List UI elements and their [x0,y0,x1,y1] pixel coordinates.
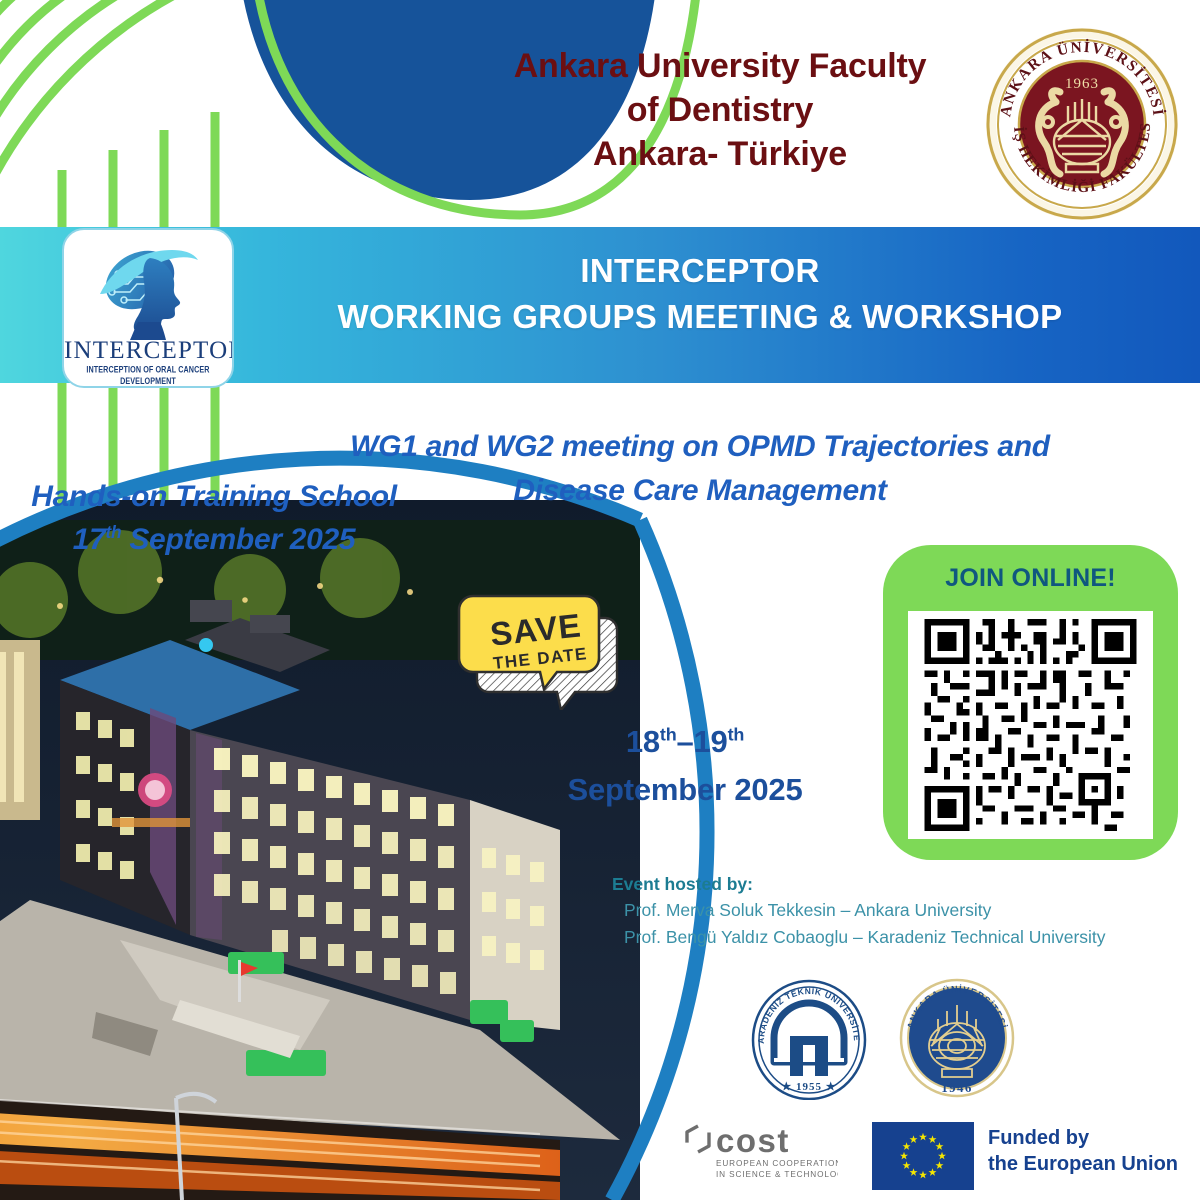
save-the-date-badge: SAVE THE DATE [455,588,625,710]
join-online-label: JOIN ONLINE! [883,564,1178,593]
qr-code-icon[interactable] [908,611,1153,839]
svg-text:1946: 1946 [941,1080,973,1095]
svg-text:★ 1955 ★: ★ 1955 ★ [781,1081,836,1093]
interceptor-tagline: INTERCEPTION OF ORAL CANCER DEVELOPMENT [64,364,232,387]
banner-line-2: WORKING GROUPS MEETING & WORKSHOP [300,294,1100,340]
woman-head-circuit-icon [80,236,220,340]
date-day-start: 18 [626,724,660,759]
cost-sub-2: IN SCIENCE & TECHNOLOGY [716,1170,838,1179]
header-line-2: of Dentistry [440,88,1000,132]
interceptor-logo-card: INTERCEPTOR INTERCEPTION OF ORAL CANCER … [62,228,234,388]
training-day: 17 [73,523,106,556]
side-building [0,640,40,820]
header-title: Ankara University Faculty of Dentistry A… [440,44,1000,177]
banner-text: INTERCEPTOR WORKING GROUPS MEETING & WOR… [300,248,1100,340]
banner-line-1: INTERCEPTOR [300,248,1100,294]
training-school-block: Hands-on Training School 17th September … [0,476,434,561]
date-dash: – [676,724,693,759]
eu-flag-icon [872,1122,974,1190]
date-ord-end: th [728,725,745,745]
join-online-box[interactable]: JOIN ONLINE! [883,545,1178,860]
date-ord-start: th [660,725,677,745]
hosts-title: Event hosted by: [612,872,1152,897]
host-person-1: Prof. Merva Soluk Tekkesin – Ankara Univ… [612,897,1152,923]
host-person-2: Prof. Bengü Yaldız Cobaoglu – Karadeniz … [612,924,1152,950]
date-day-end: 19 [694,724,728,759]
ankara-dentistry-seal-icon: ANKARA ÜNİVERSİTESİ DİŞ HEKİMLİĞİ FAKÜLT… [982,24,1182,224]
training-school-title: Hands-on Training School [0,476,434,519]
eu-funding-logo: Funded by the European Union [872,1122,1172,1180]
event-dates-month-year: September 2025 [500,766,870,814]
svg-text:1963: 1963 [1065,76,1099,92]
event-dates: 18th–19th September 2025 [500,718,870,814]
training-school-date: 17th September 2025 [0,519,434,562]
training-ordinal: th [105,522,121,542]
cost-logo: cost EUROPEAN COOPERATION IN SCIENCE & T… [678,1120,838,1182]
cost-sub-1: EUROPEAN COOPERATION [716,1159,838,1168]
event-poster: Ankara University Faculty of Dentistry A… [0,0,1200,1200]
training-month-year: September 2025 [121,523,355,556]
karadeniz-teknik-universitesi-seal-icon: KARADENİZ TEKNİK ÜNİVERSİTESİ ★ 1955 ★ [748,978,870,1100]
wg-line-1: WG1 and WG2 meeting on OPMD Trajectories… [300,425,1100,469]
event-hosts: Event hosted by: Prof. Merva Soluk Tekke… [612,872,1152,950]
event-dates-days: 18th–19th [500,718,870,766]
eu-line-1: Funded by [988,1125,1178,1151]
cost-wordmark: cost [716,1122,790,1159]
interceptor-wordmark: INTERCEPTOR [64,338,232,363]
ankara-universitesi-seal-icon: ANKARA ÜNİVERSİTESİ 1946 [898,978,1016,1100]
eu-line-2: the European Union [988,1151,1178,1177]
header-line-3: Ankara- Türkiye [440,132,1000,176]
eu-funding-text: Funded by the European Union [988,1125,1178,1177]
header-line-1: Ankara University Faculty [440,44,1000,88]
